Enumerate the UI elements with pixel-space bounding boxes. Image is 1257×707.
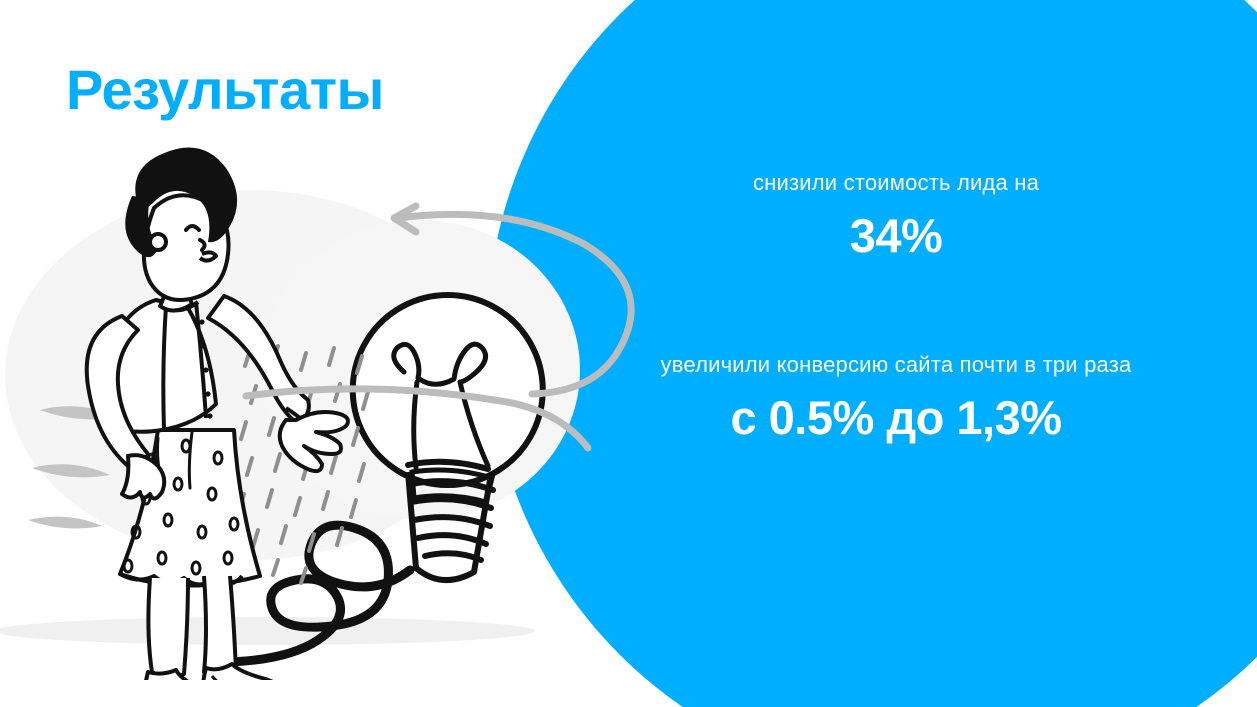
stat-value-lead-cost: 34% <box>560 210 1232 262</box>
stats-group: снизили стоимость лида на 34% увеличили … <box>560 0 1232 707</box>
stat-block-conversion: увеличили конверсию сайта почти в три ра… <box>560 350 1232 443</box>
stat-value-conversion: с 0.5% до 1,3% <box>560 392 1232 444</box>
stat-caption-conversion: увеличили конверсию сайта почти в три ра… <box>560 350 1232 380</box>
stat-caption-lead-cost: снизили стоимость лида на <box>560 168 1232 198</box>
stat-block-lead-cost: снизили стоимость лида на 34% <box>560 168 1232 261</box>
page-title: Результаты <box>66 59 384 121</box>
illustration-woman-lightbulb <box>0 120 640 680</box>
lightbulb-icon <box>353 295 543 580</box>
ground-shadow <box>0 617 535 645</box>
slide-canvas: Результаты снизили стоимость лида на 34%… <box>0 0 1257 707</box>
